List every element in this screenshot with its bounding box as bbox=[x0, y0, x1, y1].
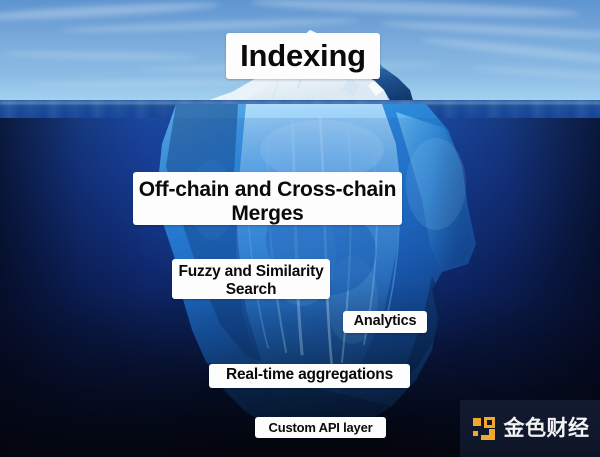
label-real-time-aggregations: Real-time aggregations bbox=[209, 364, 410, 388]
label-line-2: Search bbox=[226, 281, 277, 298]
cloud-wisp bbox=[0, 50, 200, 60]
label-custom-api-layer: Custom API layer bbox=[255, 417, 386, 438]
label-line-1: Fuzzy and Similarity bbox=[178, 263, 323, 280]
cloud-wisp bbox=[250, 0, 580, 20]
cloud-wisp bbox=[420, 35, 600, 66]
iceberg-infographic: Indexing Off-chain and Cross-chain Merge… bbox=[0, 0, 600, 457]
watermark: 金色财经 bbox=[460, 400, 600, 457]
label-indexing: Indexing bbox=[226, 33, 380, 79]
label-off-chain-cross-chain-merges: Off-chain and Cross-chain Merges bbox=[133, 172, 402, 225]
watermark-text: 金色财经 bbox=[504, 418, 590, 439]
label-line-1: Off-chain and Cross-chain bbox=[139, 178, 397, 201]
cloud-wisp bbox=[0, 0, 220, 22]
cloud-wisp bbox=[470, 64, 600, 81]
label-fuzzy-and-similarity-search: Fuzzy and Similarity Search bbox=[172, 259, 330, 299]
label-analytics: Analytics bbox=[343, 311, 427, 333]
jinse-logo-icon bbox=[471, 416, 497, 442]
label-line-2: Merges bbox=[231, 202, 303, 225]
